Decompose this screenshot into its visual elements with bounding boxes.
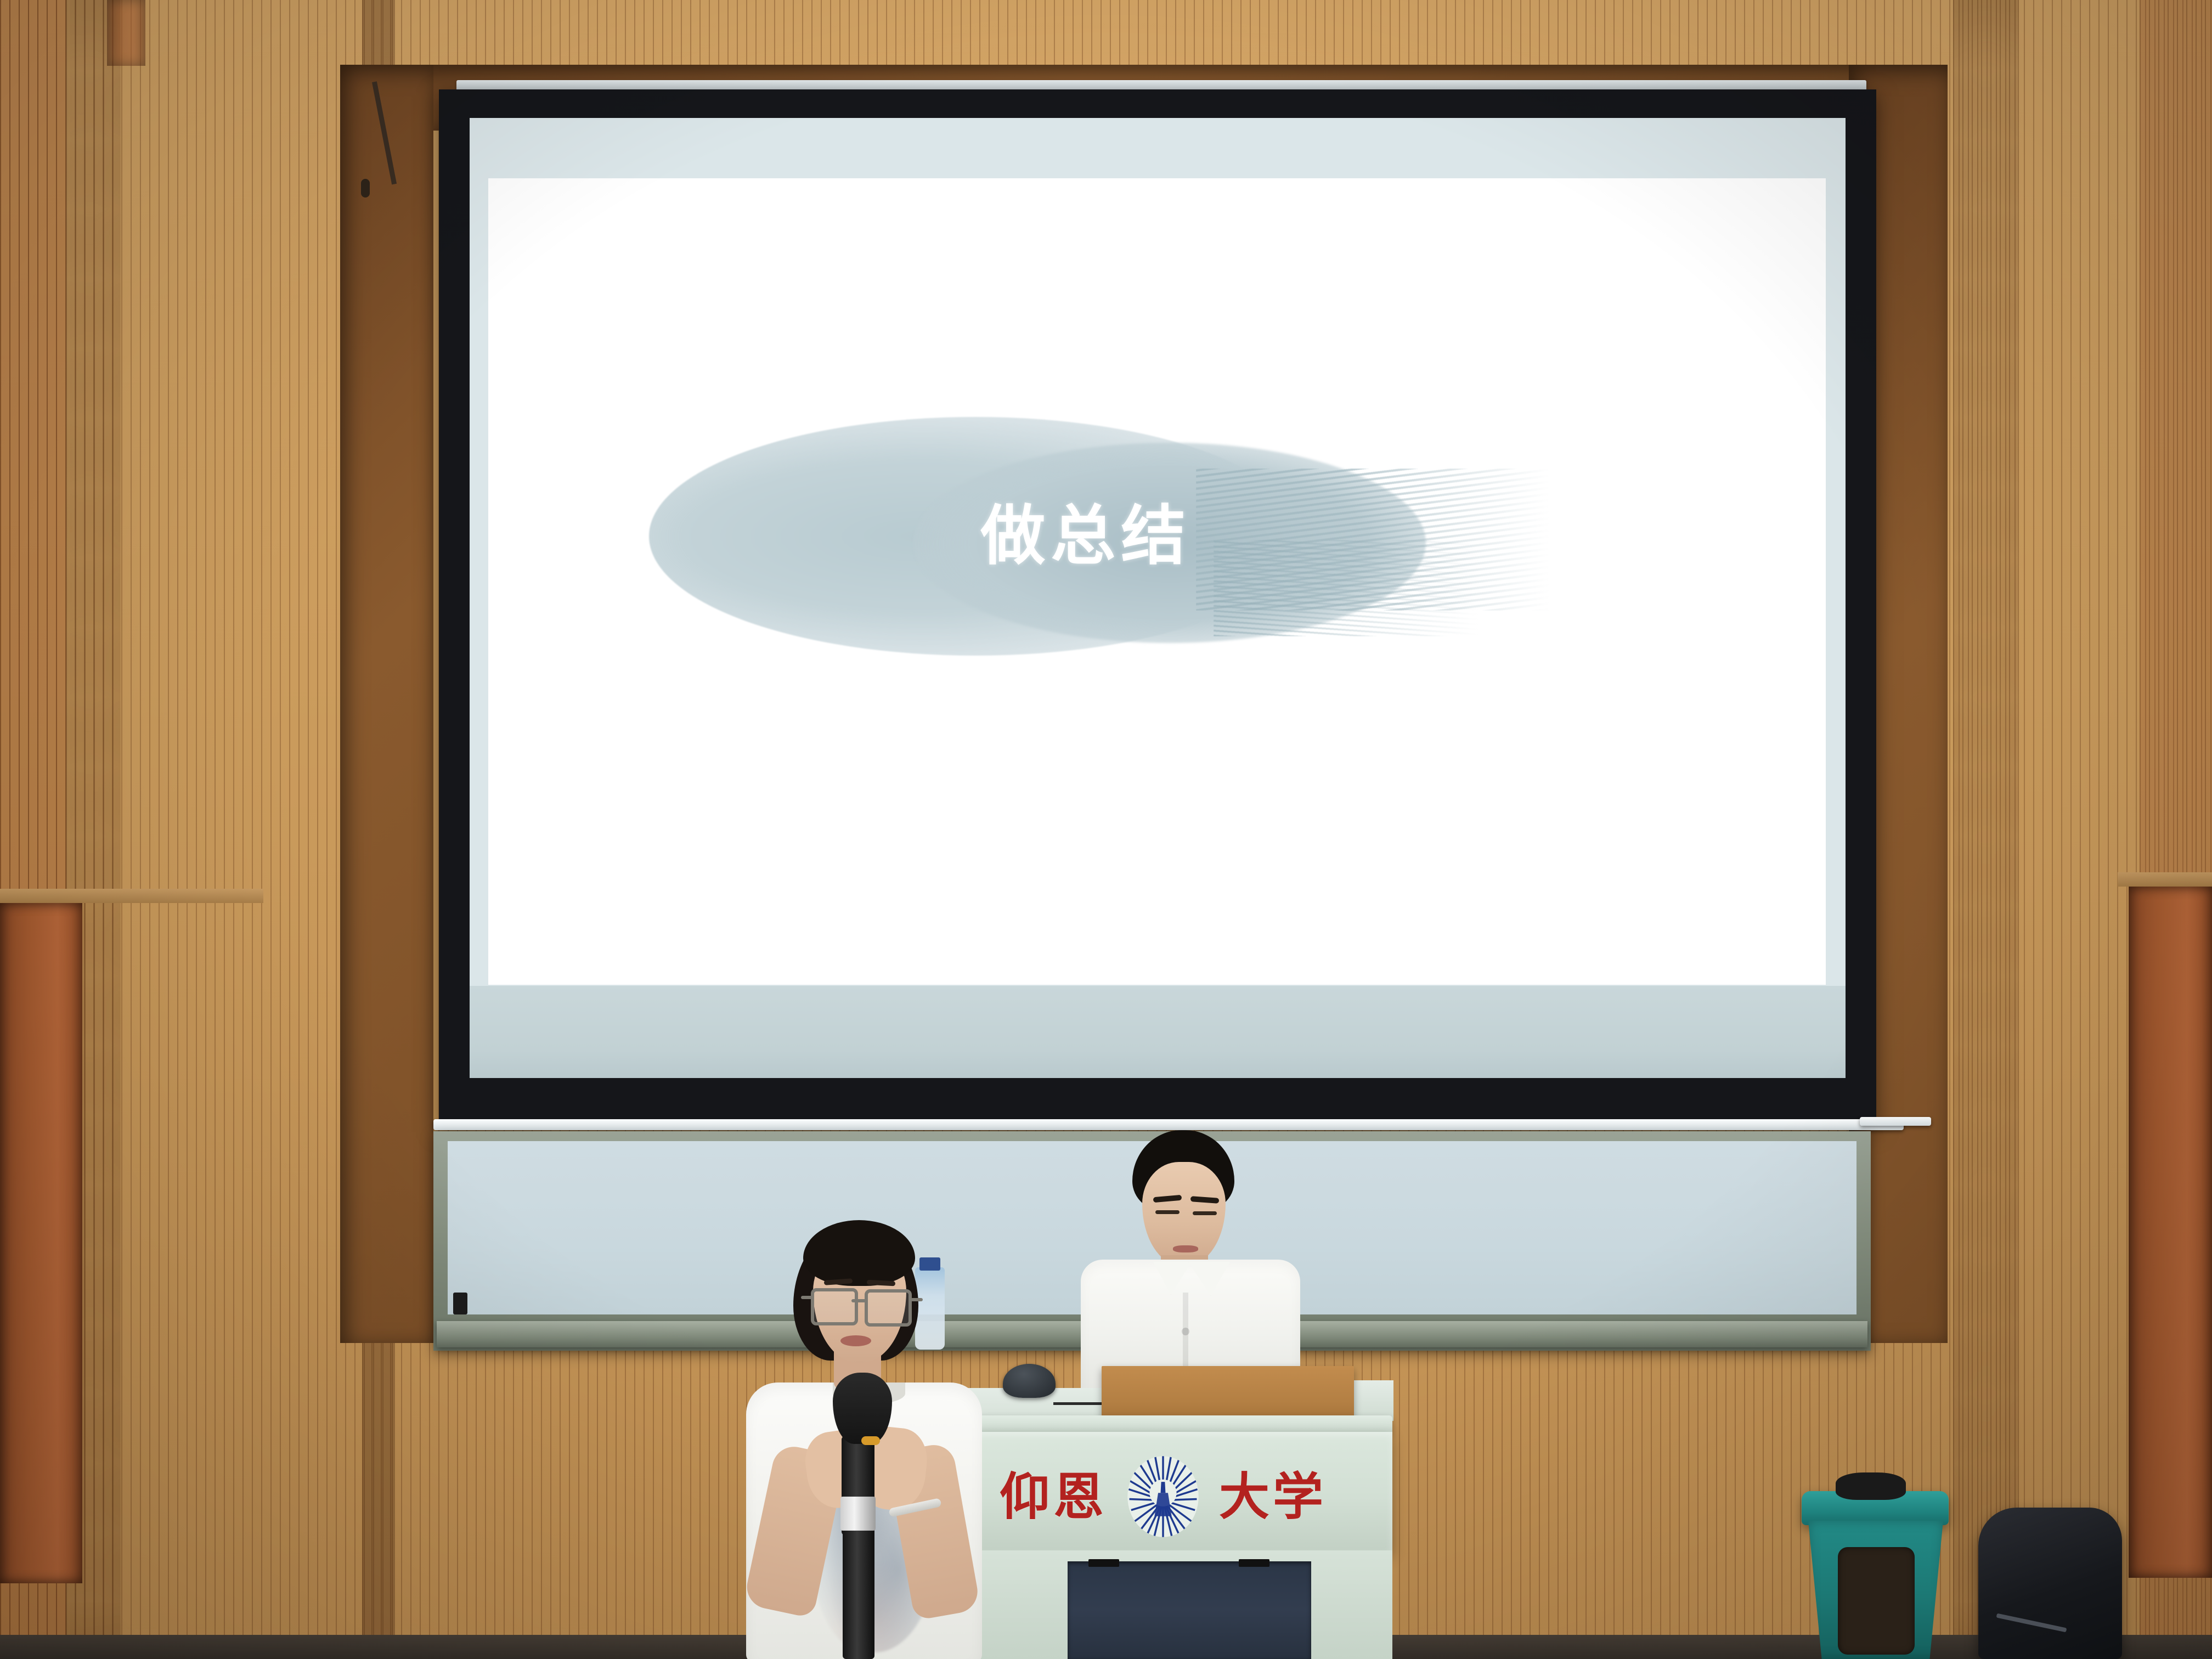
podium-panel-latch-left[interactable] [1088, 1559, 1119, 1567]
screen-surface: 做总结 [470, 118, 1846, 1078]
microphone-head[interactable] [833, 1373, 892, 1444]
screen-weight-bar[interactable] [433, 1119, 1904, 1130]
wall-alcove-left-lip [0, 889, 263, 903]
operator-eye-left [1155, 1210, 1180, 1214]
ink-brush-stroke: 做总结 [649, 372, 1532, 695]
glasses-temple-left [801, 1296, 813, 1299]
wall-alcove-left [0, 903, 82, 1583]
operator-mouth [1173, 1245, 1198, 1252]
projection-screen: 做总结 [439, 89, 1876, 1126]
backpack[interactable] [1978, 1508, 2122, 1659]
screen-housing-recess-left [340, 65, 433, 1343]
wall-shadow-strip [107, 0, 145, 66]
microphone-indicator-light [861, 1436, 880, 1445]
wall-alcove-right-lip [2118, 872, 2212, 887]
podium-front-face: 仰恩 [975, 1432, 1392, 1551]
backpack-zipper[interactable] [1996, 1613, 2067, 1633]
person-speaker [742, 1218, 1005, 1659]
glasses-bridge [851, 1299, 867, 1302]
stool-cutout [1838, 1547, 1915, 1655]
stool-strap-bundle [1836, 1472, 1906, 1500]
podium: 仰恩 [975, 1415, 1392, 1659]
operator-shirt-button-1 [1182, 1328, 1189, 1335]
speaker-hair [803, 1220, 915, 1286]
slide-headline: 做总结 [980, 504, 1191, 568]
projected-slide: 做总结 [488, 178, 1826, 985]
speaker-mouth [840, 1335, 871, 1346]
speaker-eyeglasses [811, 1288, 912, 1321]
microphone-handle[interactable] [843, 1528, 874, 1659]
wall-alcove-right [2129, 887, 2212, 1578]
glasses-temple-right [911, 1298, 923, 1301]
lecture-hall-photo: 做总结 [0, 0, 2212, 1659]
podium-top-edge [975, 1415, 1392, 1434]
glasses-lens-right [865, 1289, 912, 1327]
glasses-lens-left [811, 1288, 858, 1325]
podium-text-left: 仰恩 [1000, 1471, 1107, 1522]
podium-panel-latch-right[interactable] [1239, 1559, 1269, 1567]
brush-dry-tail-lower [1214, 540, 1479, 636]
screen-pull-cord-tip[interactable] [361, 179, 370, 198]
yangen-university-emblem-icon [1126, 1455, 1200, 1538]
operator-eye-right [1193, 1211, 1217, 1215]
screen-weight-bar-tip [1860, 1117, 1931, 1126]
whiteboard-clip [453, 1293, 467, 1314]
podium-equipment-panel[interactable] [1068, 1561, 1311, 1659]
plastic-stool[interactable] [1802, 1459, 1983, 1659]
screen-lower-band [470, 986, 1846, 1078]
podium-branding: 仰恩 [1000, 1455, 1327, 1538]
podium-text-right: 大学 [1219, 1471, 1327, 1522]
wall-segment-3 [1953, 0, 2019, 1659]
microphone-ring [840, 1497, 876, 1531]
